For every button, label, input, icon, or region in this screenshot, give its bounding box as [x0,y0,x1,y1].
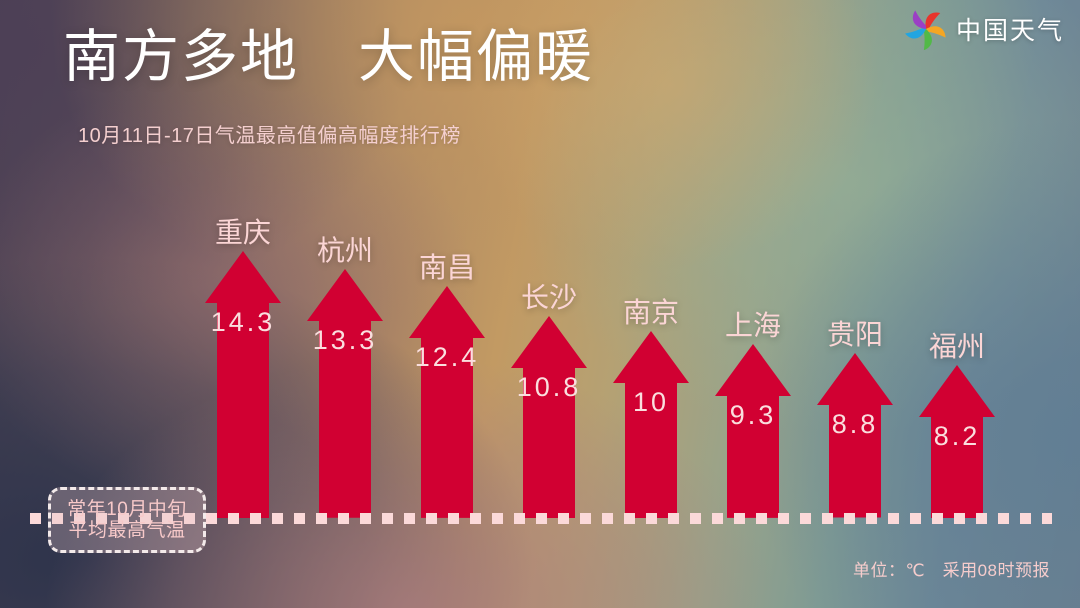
infographic-canvas: 南方多地 大幅偏暖 10月11日-17日气温最高值偏高幅度排行榜 中国天气 14… [0,0,1080,608]
arrow-bar[interactable]: 14.3重庆 [205,251,281,518]
baseline-note-box: 常年10月中旬 平均最高气温 [48,487,206,553]
arrow-bar[interactable]: 13.3杭州 [307,269,383,518]
arrow-city-label: 杭州 [317,229,373,269]
arrow-value-label: 10 [633,387,669,418]
arrow-shape [307,269,383,518]
arrow-bar[interactable]: 10南京 [613,331,689,518]
arrow-bar[interactable]: 8.2福州 [919,365,995,518]
arrow-city-label: 福州 [929,325,985,365]
arrow-city-label: 重庆 [215,211,271,251]
baseline-note-line-1: 常年10月中旬 [67,499,187,520]
arrow-value-label: 8.2 [934,421,981,452]
arrow-bar[interactable]: 9.3上海 [715,344,791,518]
arrow-bar[interactable]: 8.8贵阳 [817,353,893,518]
arrow-city-label: 长沙 [521,276,577,316]
arrow-value-label: 12.4 [415,342,480,373]
arrow-value-label: 14.3 [211,307,276,338]
arrow-shape [613,331,689,518]
footer-note: 单位：℃ 采用08时预报 [853,556,1050,581]
arrow-shape [409,286,485,518]
arrow-value-label: 9.3 [730,400,777,431]
arrow-shape [205,251,281,518]
arrow-value-label: 13.3 [313,325,378,356]
arrow-bar[interactable]: 12.4南昌 [409,286,485,518]
arrow-value-label: 10.8 [517,372,582,403]
arrow-city-label: 南京 [623,291,679,331]
arrow-value-label: 8.8 [832,409,879,440]
arrow-shape [511,316,587,518]
arrow-bar[interactable]: 10.8长沙 [511,316,587,518]
arrow-city-label: 上海 [725,304,781,344]
arrow-city-label: 贵阳 [827,313,883,353]
arrow-city-label: 南昌 [419,246,475,286]
baseline-note-line-2: 平均最高气温 [68,520,185,541]
